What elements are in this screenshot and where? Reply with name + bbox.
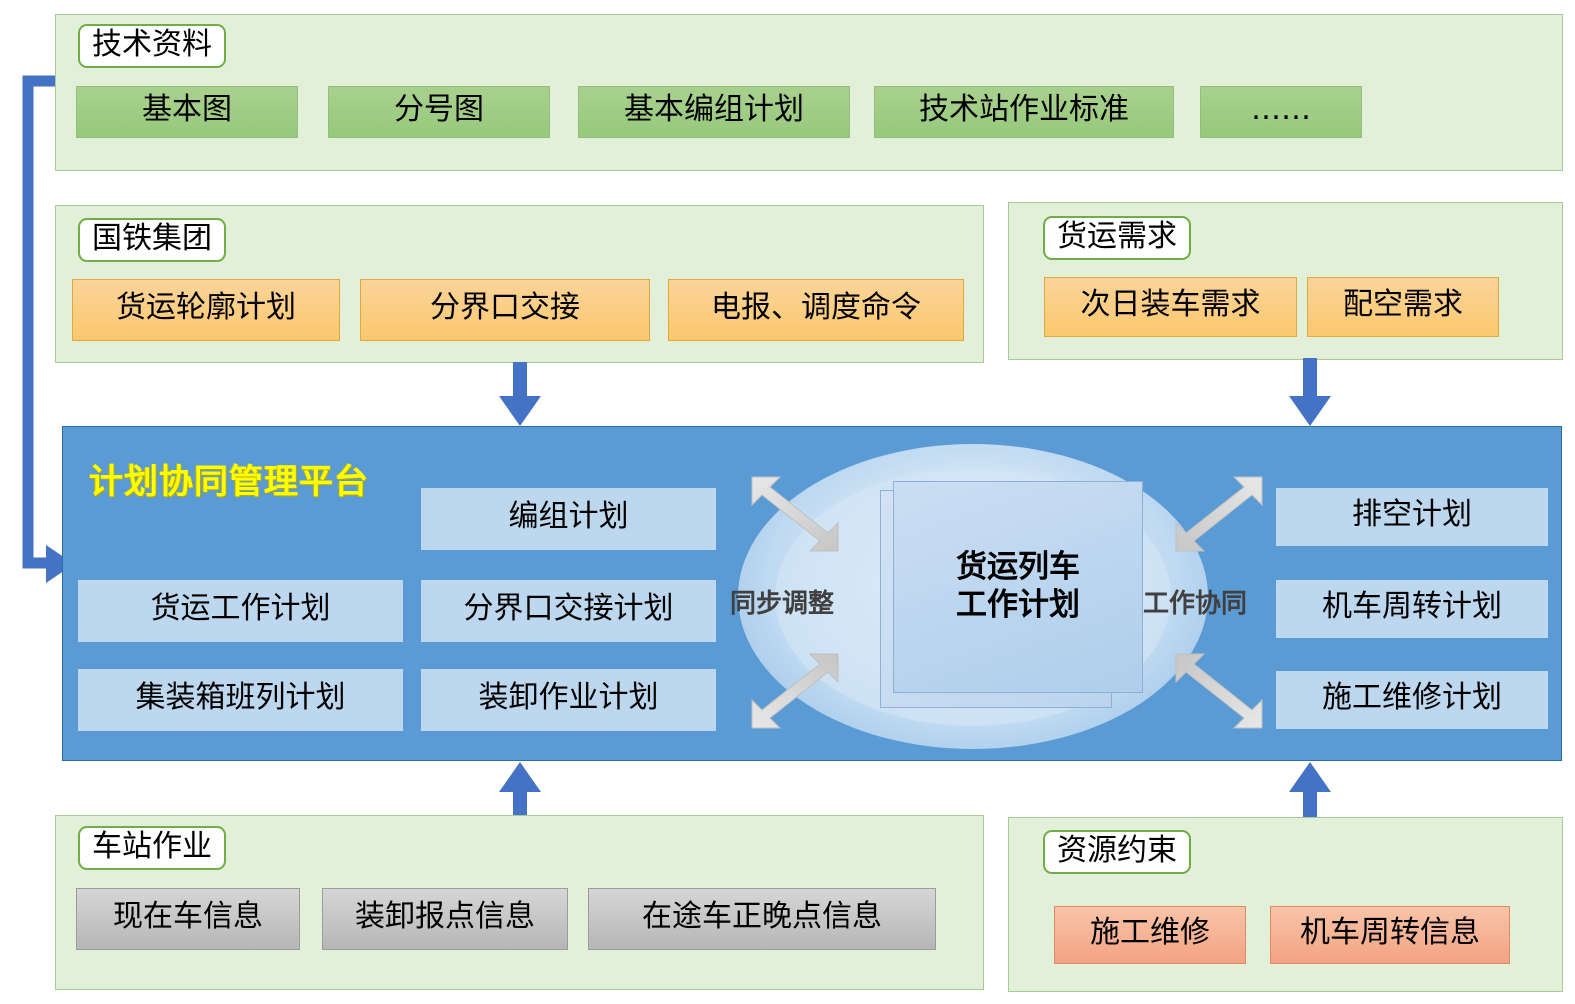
chip-platform-middle-2[interactable]: 装卸作业计划 [421,669,716,731]
chip-tech-docs-4[interactable]: …… [1200,86,1362,138]
group-title-freight-demand: 货运需求 [1043,216,1191,260]
double-arrow-top-right-icon [1160,475,1270,560]
chip-platform-middle-1[interactable]: 分界口交接计划 [421,580,716,642]
group-title-tech-docs: 技术资料 [78,24,226,68]
chip-station-ops-2[interactable]: 在途车正晚点信息 [588,888,936,950]
group-title-station-ops: 车站作业 [78,826,226,870]
double-arrow-bottom-left-icon [744,645,854,730]
double-arrow-top-left-icon [744,475,854,560]
chip-platform-right-2[interactable]: 施工维修计划 [1276,671,1548,729]
platform-title: 计划协同管理平台 [89,454,369,503]
arrow-national-railway-down [492,362,548,428]
group-title-national-railway: 国铁集团 [78,218,226,262]
chip-freight-demand-1[interactable]: 配空需求 [1307,277,1499,337]
chip-platform-left-1[interactable]: 集装箱班列计划 [78,669,403,731]
chip-tech-docs-2[interactable]: 基本编组计划 [578,86,850,138]
center-doc-line1: 货运列车 [956,549,1080,587]
chip-freight-demand-0[interactable]: 次日装车需求 [1044,277,1297,337]
chip-resource-constraints-1[interactable]: 机车周转信息 [1270,906,1510,964]
chip-platform-right-1[interactable]: 机车周转计划 [1276,580,1548,638]
chip-platform-right-0[interactable]: 排空计划 [1276,488,1548,546]
double-arrow-bottom-right-icon [1160,645,1270,730]
arrow-freight-demand-down [1282,358,1338,428]
chip-national-railway-1[interactable]: 分界口交接 [360,279,650,341]
chip-platform-left-0[interactable]: 货运工作计划 [78,580,403,642]
diagram-canvas: 技术资料 基本图 分号图 基本编组计划 技术站作业标准 …… 国铁集团 货运轮廓… [0,0,1575,1004]
chip-station-ops-0[interactable]: 现在车信息 [76,888,300,950]
chip-platform-middle-0[interactable]: 编组计划 [421,488,716,550]
chip-national-railway-2[interactable]: 电报、调度命令 [668,279,964,341]
label-work-coordination: 工作协同 [1143,583,1247,620]
chip-tech-docs-0[interactable]: 基本图 [76,86,298,138]
chip-tech-docs-3[interactable]: 技术站作业标准 [874,86,1174,138]
chip-station-ops-1[interactable]: 装卸报点信息 [322,888,568,950]
chip-national-railway-0[interactable]: 货运轮廓计划 [72,279,340,341]
center-doc-label: 货运列车 工作计划 [893,481,1143,693]
chip-resource-constraints-0[interactable]: 施工维修 [1054,906,1246,964]
group-title-resource-constraints: 资源约束 [1043,830,1191,874]
label-sync-adjust: 同步调整 [730,583,834,620]
chip-tech-docs-1[interactable]: 分号图 [328,86,550,138]
center-doc-line2: 工作计划 [956,587,1080,625]
